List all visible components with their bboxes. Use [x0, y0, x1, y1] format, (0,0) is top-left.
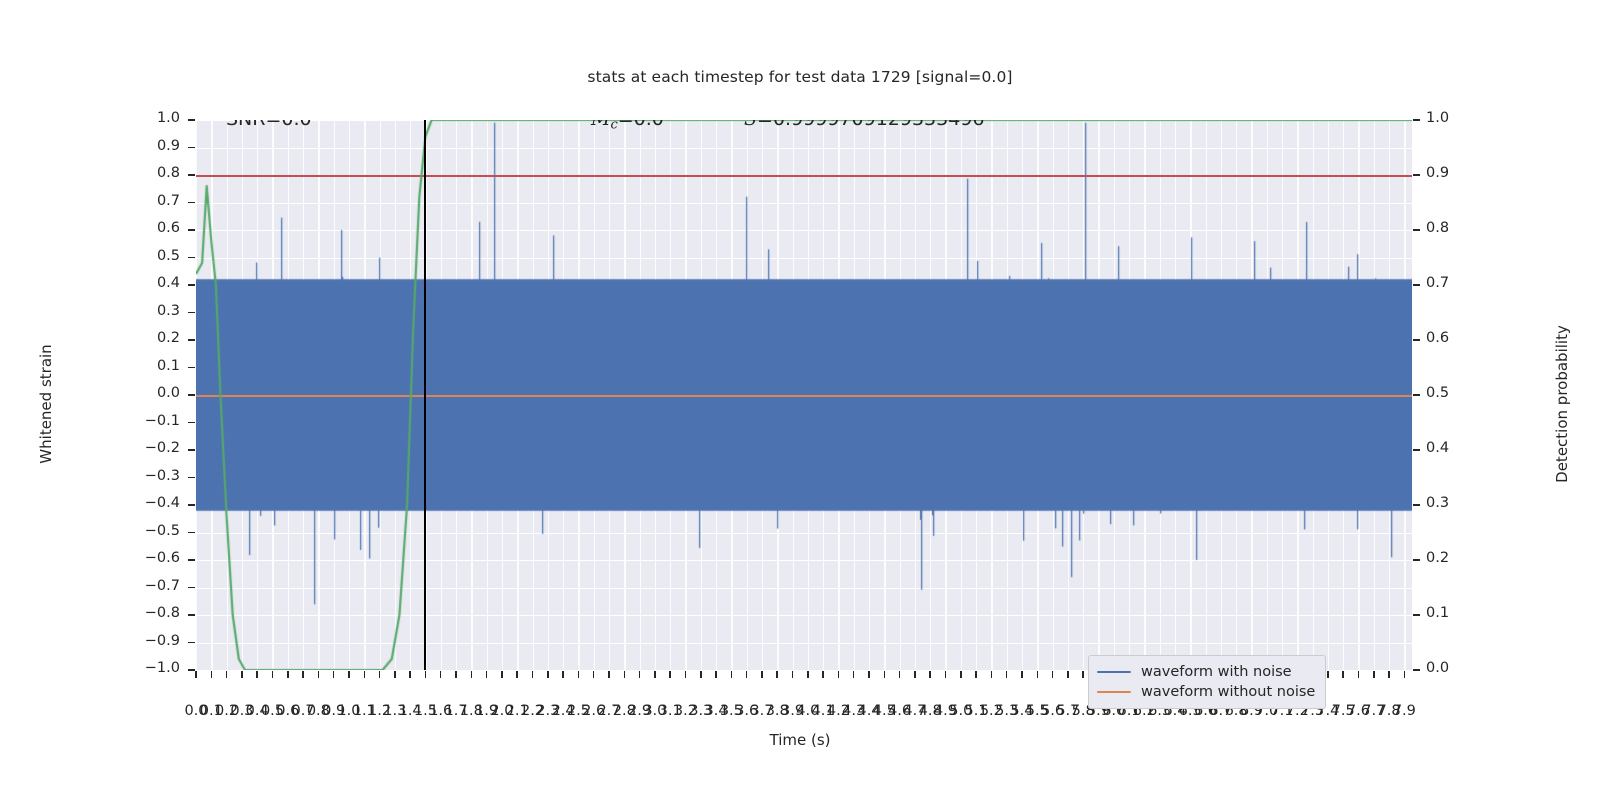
y-tick-label-right: 0.5	[1426, 385, 1486, 401]
x-tick-mark	[1373, 671, 1375, 678]
x-tick-mark	[899, 671, 901, 678]
x-tick-mark	[639, 671, 641, 678]
x-tick-mark	[608, 671, 610, 678]
y-tick-mark-left	[188, 614, 195, 616]
x-tick-mark	[532, 671, 534, 678]
x-tick-mark	[1037, 671, 1039, 678]
y-tick-mark-left	[188, 422, 195, 424]
y-tick-mark-left	[188, 532, 195, 534]
x-tick-mark	[884, 671, 886, 678]
x-tick-mark	[654, 671, 656, 678]
x-tick-mark	[975, 671, 977, 678]
x-tick-mark	[1404, 671, 1406, 678]
y-tick-mark-left	[188, 339, 195, 341]
y-tick-label-left: 0.6	[120, 220, 180, 236]
annotation-detection-stat-value: =0.9999709129333496	[757, 120, 984, 130]
x-tick-mark	[364, 671, 366, 678]
x-tick-mark	[486, 671, 488, 678]
y-tick-label-right: 0.6	[1426, 330, 1486, 346]
y-tick-mark-right	[1413, 614, 1420, 616]
y-tick-mark-left	[188, 229, 195, 231]
y-tick-label-left: 0.1	[120, 358, 180, 374]
y-tick-mark-left	[188, 257, 195, 259]
x-tick-mark	[960, 671, 962, 678]
y-tick-label-right: 0.9	[1426, 165, 1486, 181]
x-tick-mark	[868, 671, 870, 678]
y-tick-label-left: −0.6	[120, 550, 180, 566]
x-tick-mark	[516, 671, 518, 678]
legend-swatch	[1097, 671, 1131, 674]
annotation-chirp-mass-symbol: M	[591, 120, 610, 130]
x-tick-mark	[1342, 671, 1344, 678]
detection-probability-series	[196, 120, 1412, 670]
y-tick-mark-left	[188, 312, 195, 314]
x-tick-mark	[1052, 671, 1054, 678]
x-tick-mark	[807, 671, 809, 678]
x-tick-mark	[746, 671, 748, 678]
y-tick-mark-right	[1413, 174, 1420, 176]
x-tick-mark	[547, 671, 549, 678]
annotation-chirp-mass: Mc=0.0	[591, 120, 664, 133]
y-tick-mark-left	[188, 119, 195, 121]
legend-swatch	[1097, 691, 1131, 694]
y-tick-label-right: 0.1	[1426, 605, 1486, 621]
x-tick-label: 7.9	[1393, 703, 1416, 719]
y-tick-mark-right	[1413, 119, 1420, 121]
x-tick-mark	[1006, 671, 1008, 678]
y-tick-mark-left	[188, 504, 195, 506]
x-tick-mark	[700, 671, 702, 678]
y-tick-label-right: 0.8	[1426, 220, 1486, 236]
y-tick-label-left: −0.4	[120, 495, 180, 511]
y-tick-label-left: −0.1	[120, 413, 180, 429]
y-tick-mark-left	[188, 587, 195, 589]
legend-label: waveform without noise	[1141, 684, 1315, 700]
x-tick-mark	[471, 671, 473, 678]
y-tick-label-left: −0.7	[120, 578, 180, 594]
matplotlib-figure: stats at each timestep for test data 172…	[0, 0, 1600, 800]
y-tick-label-right: 1.0	[1426, 110, 1486, 126]
y-tick-mark-left	[188, 669, 195, 671]
y-tick-label-right: 0.2	[1426, 550, 1486, 566]
y-tick-mark-left	[188, 367, 195, 369]
y-tick-mark-right	[1413, 504, 1420, 506]
y-tick-label-left: 0.5	[120, 248, 180, 264]
y-tick-mark-right	[1413, 449, 1420, 451]
legend[interactable]: waveform with noisewaveform without nois…	[1088, 655, 1326, 709]
x-tick-mark	[1327, 671, 1329, 678]
y-tick-label-left: −0.2	[120, 440, 180, 456]
x-tick-mark	[945, 671, 947, 678]
x-tick-mark	[501, 671, 503, 678]
y-tick-label-right: 0.3	[1426, 495, 1486, 511]
x-tick-mark	[333, 671, 335, 678]
x-tick-mark	[1358, 671, 1360, 678]
x-tick-mark	[226, 671, 228, 678]
y-tick-mark-left	[188, 394, 195, 396]
y-tick-label-left: 0.3	[120, 303, 180, 319]
x-tick-mark	[425, 671, 427, 678]
y-tick-label-left: 0.7	[120, 193, 180, 209]
x-tick-mark	[853, 671, 855, 678]
x-tick-mark	[1067, 671, 1069, 678]
x-tick-mark	[578, 671, 580, 678]
y-tick-mark-left	[188, 477, 195, 479]
annotation-chirp-mass-subscript: c	[610, 120, 617, 133]
y-tick-mark-right	[1413, 559, 1420, 561]
x-tick-mark	[593, 671, 595, 678]
x-tick-mark	[929, 671, 931, 678]
x-tick-mark	[394, 671, 396, 678]
x-tick-mark	[287, 671, 289, 678]
y-tick-label-left: −1.0	[120, 660, 180, 676]
x-tick-mark	[914, 671, 916, 678]
y-tick-label-left: −0.3	[120, 468, 180, 484]
x-tick-mark	[1021, 671, 1023, 678]
x-tick-mark	[761, 671, 763, 678]
x-tick-mark	[409, 671, 411, 678]
y-tick-mark-left	[188, 147, 195, 149]
x-tick-mark	[669, 671, 671, 678]
y-tick-label-right: 0.0	[1426, 660, 1486, 676]
y-tick-mark-left	[188, 202, 195, 204]
y-tick-label-right: 0.7	[1426, 275, 1486, 291]
y-tick-label-right: 0.4	[1426, 440, 1486, 456]
y-tick-label-left: 0.2	[120, 330, 180, 346]
annotation-snr: SNR=0.0	[226, 120, 312, 130]
trigger-time-vline	[424, 120, 426, 670]
annotation-detection-stat: S=0.9999709129333496	[744, 120, 985, 130]
x-tick-mark	[302, 671, 304, 678]
y-tick-mark-right	[1413, 394, 1420, 396]
y-tick-mark-left	[188, 174, 195, 176]
x-tick-mark	[318, 671, 320, 678]
y-tick-mark-right	[1413, 284, 1420, 286]
y-tick-mark-right	[1413, 229, 1420, 231]
annotation-detection-stat-symbol: S	[744, 120, 757, 130]
y-tick-label-left: 1.0	[120, 110, 180, 126]
y-tick-mark-left	[188, 449, 195, 451]
x-tick-mark	[991, 671, 993, 678]
y-tick-label-left: 0.0	[120, 385, 180, 401]
y-tick-label-left: −0.9	[120, 633, 180, 649]
y-tick-mark-right	[1413, 669, 1420, 671]
x-tick-mark	[241, 671, 243, 678]
plot-axes: SNR=0.0 Mc=0.0 S=0.9999709129333496	[196, 120, 1412, 670]
y-tick-label-left: −0.8	[120, 605, 180, 621]
x-tick-mark	[715, 671, 717, 678]
annotation-chirp-mass-value: =0.0	[618, 120, 664, 130]
x-tick-mark	[838, 671, 840, 678]
x-tick-mark	[440, 671, 442, 678]
x-tick-mark	[624, 671, 626, 678]
x-tick-mark	[1082, 671, 1084, 678]
y-tick-label-left: −0.5	[120, 523, 180, 539]
y-tick-mark-right	[1413, 339, 1420, 341]
x-tick-mark	[256, 671, 258, 678]
y-tick-label-left: 0.9	[120, 138, 180, 154]
legend-item[interactable]: waveform without noise	[1097, 682, 1315, 702]
x-tick-mark	[685, 671, 687, 678]
x-tick-mark	[379, 671, 381, 678]
y-tick-mark-left	[188, 642, 195, 644]
y-axis-label-left: Whitened strain	[37, 224, 55, 584]
x-tick-mark	[1388, 671, 1390, 678]
x-tick-mark	[776, 671, 778, 678]
x-tick-mark	[211, 671, 213, 678]
x-axis-label: Time (s)	[0, 731, 1600, 749]
x-tick-mark	[272, 671, 274, 678]
x-tick-mark	[348, 671, 350, 678]
y-tick-label-left: 0.8	[120, 165, 180, 181]
x-tick-mark	[822, 671, 824, 678]
x-tick-mark	[195, 671, 197, 678]
legend-item[interactable]: waveform with noise	[1097, 662, 1315, 682]
x-tick-mark	[792, 671, 794, 678]
x-tick-mark	[562, 671, 564, 678]
y-tick-mark-left	[188, 559, 195, 561]
y-tick-label-left: 0.4	[120, 275, 180, 291]
chart-title: stats at each timestep for test data 172…	[0, 68, 1600, 86]
x-tick-mark	[731, 671, 733, 678]
x-tick-mark	[455, 671, 457, 678]
y-axis-label-right: Detection probability	[1553, 224, 1571, 584]
legend-label: waveform with noise	[1141, 664, 1292, 680]
y-tick-mark-left	[188, 284, 195, 286]
